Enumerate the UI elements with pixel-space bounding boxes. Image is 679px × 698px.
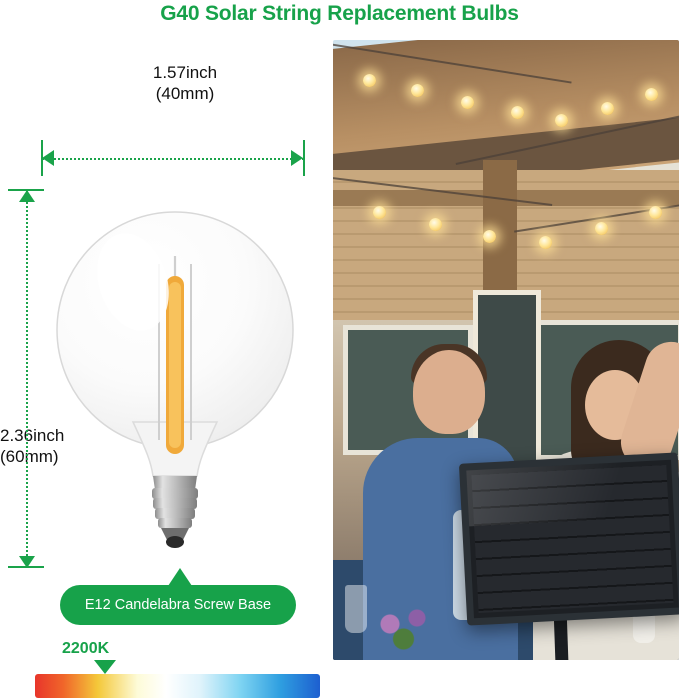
string-bulb bbox=[555, 114, 568, 127]
base-badge: E12 Candelabra Screw Base bbox=[60, 585, 296, 625]
arrow-down-icon bbox=[19, 556, 35, 568]
bulb-svg bbox=[55, 190, 295, 580]
width-dimension-label: 1.57inch (40mm) bbox=[95, 62, 275, 105]
height-dimension-line bbox=[26, 190, 28, 568]
string-bulb bbox=[373, 206, 386, 219]
bulb-illustration bbox=[55, 190, 295, 580]
photo-person-left-head bbox=[413, 350, 485, 434]
arrow-up-icon bbox=[19, 190, 35, 202]
height-dimension-mm: (60mm) bbox=[0, 447, 59, 466]
string-bulb bbox=[539, 236, 552, 249]
color-temperature-label: 2200K bbox=[62, 640, 109, 658]
string-bulb bbox=[645, 88, 658, 101]
string-bulb bbox=[411, 84, 424, 97]
photo-glass bbox=[345, 585, 367, 633]
string-bulb bbox=[601, 102, 614, 115]
string-bulb bbox=[595, 222, 608, 235]
solar-panel bbox=[459, 452, 679, 625]
string-bulb bbox=[429, 218, 442, 231]
color-temperature-gradient-bar bbox=[35, 674, 320, 698]
bulb-dimension-diagram: 1.57inch (40mm) 2.36inch (60mm) bbox=[0, 40, 330, 660]
page-title: G40 Solar String Replacement Bulbs bbox=[0, 2, 679, 26]
string-bulb bbox=[461, 96, 474, 109]
string-bulb bbox=[363, 74, 376, 87]
string-bulb bbox=[511, 106, 524, 119]
arrow-left-icon bbox=[42, 150, 54, 166]
color-temperature-marker-icon bbox=[94, 660, 116, 674]
width-dimension-line bbox=[42, 158, 304, 160]
photo-flowers bbox=[363, 600, 453, 660]
lifestyle-photo bbox=[333, 40, 679, 660]
string-bulb bbox=[649, 206, 662, 219]
width-dimension-inch: 1.57inch bbox=[153, 63, 217, 82]
solar-panel-glare bbox=[466, 460, 674, 527]
width-dimension-mm: (40mm) bbox=[156, 84, 215, 103]
string-bulb bbox=[483, 230, 496, 243]
arrow-right-icon bbox=[291, 150, 303, 166]
base-badge-pointer-icon bbox=[168, 568, 192, 586]
